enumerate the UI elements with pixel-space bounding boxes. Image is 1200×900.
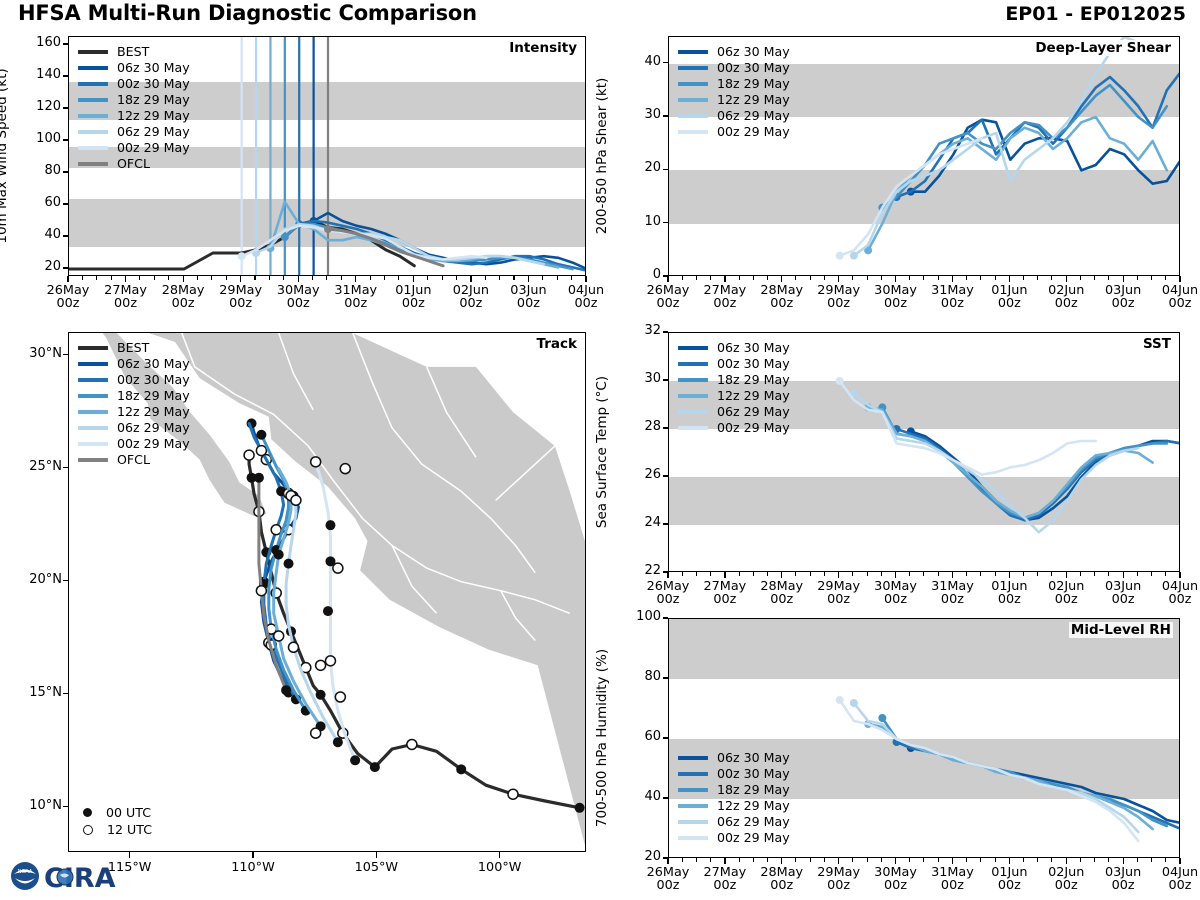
legend-item[interactable]: 00z 30 May xyxy=(678,766,790,782)
legend-swatch xyxy=(678,788,708,792)
y-tick xyxy=(663,677,668,678)
legend-label: OFCL xyxy=(117,454,150,467)
legend-item[interactable]: 18z 29 May xyxy=(678,782,790,798)
panel-title: Deep-Layer Shear xyxy=(1033,40,1173,56)
x-tick-minor xyxy=(1165,858,1166,862)
legend-track: BEST06z 30 May00z 30 May18z 29 May12z 29… xyxy=(78,340,190,468)
y-tick-label: 20 xyxy=(616,849,661,864)
x-tick-minor xyxy=(739,858,740,862)
legend-swatch xyxy=(678,130,708,134)
legend-label: BEST xyxy=(117,46,149,59)
legend-item[interactable]: 06z 29 May xyxy=(678,404,790,420)
legend-label: 18z 29 May xyxy=(717,784,790,797)
legend-swatch xyxy=(678,114,708,118)
legend-label: 00z 30 May xyxy=(117,374,190,387)
legend-label: 12z 29 May xyxy=(717,94,790,107)
x-tick-major xyxy=(1009,858,1010,864)
legend-item[interactable]: 06z 30 May xyxy=(678,750,790,766)
x-tick-minor xyxy=(1151,858,1152,862)
x-tick-minor xyxy=(810,858,811,862)
legend-item[interactable]: 12z 29 May xyxy=(678,388,790,404)
series-start-marker xyxy=(850,699,858,707)
legend-item[interactable]: BEST xyxy=(78,44,190,60)
x-tick-major xyxy=(895,858,896,864)
legend-label: 06z 30 May xyxy=(117,358,190,371)
legend-label: 06z 30 May xyxy=(717,46,790,59)
legend-label: 12z 29 May xyxy=(117,110,190,123)
y-tick-label: 80 xyxy=(616,669,661,684)
x-tick-minor xyxy=(995,858,996,862)
x-tick-hour: 00z xyxy=(884,878,907,893)
legend-swatch xyxy=(678,820,708,824)
legend-swatch xyxy=(678,66,708,70)
noaa-logo-icon: NOAA xyxy=(11,862,39,890)
panel-title: SST xyxy=(1141,336,1173,352)
legend-label: 06z 30 May xyxy=(117,62,190,75)
x-tick-minor xyxy=(696,858,697,862)
x-tick-minor xyxy=(909,858,910,862)
panel-title: Intensity xyxy=(507,40,579,56)
legend-item[interactable]: 18z 29 May xyxy=(678,372,790,388)
legend-label: 00z 30 May xyxy=(717,62,790,75)
open-circle-icon xyxy=(83,825,93,835)
agency-logos: NOAA CIRA xyxy=(8,856,128,896)
y-tick-label: 40 xyxy=(616,789,661,804)
legend-swatch xyxy=(78,426,108,430)
legend-swatch xyxy=(678,394,708,398)
series-line xyxy=(882,718,1167,826)
legend-label: 00z 29 May xyxy=(717,126,790,139)
y-tick xyxy=(663,797,668,798)
legend-swatch xyxy=(678,98,708,102)
series-line xyxy=(868,724,1153,829)
svg-text:NOAA: NOAA xyxy=(18,869,33,875)
legend-marker-item: 12 UTC xyxy=(72,821,152,838)
x-tick-minor xyxy=(1137,858,1138,862)
x-tick-minor xyxy=(852,858,853,862)
x-tick-hour: 00z xyxy=(770,878,793,893)
legend-label: 12z 29 May xyxy=(117,406,190,419)
legend-label: BEST xyxy=(117,342,149,355)
legend-mid-level-rh: 06z 30 May00z 30 May18z 29 May12z 29 May… xyxy=(678,750,790,846)
legend-label: 12z 29 May xyxy=(717,800,790,813)
x-tick-hour: 00z xyxy=(998,878,1021,893)
legend-intensity: BEST06z 30 May00z 30 May18z 29 May12z 29… xyxy=(78,44,190,172)
legend-swatch xyxy=(78,378,108,382)
x-tick-hour: 00z xyxy=(1112,878,1135,893)
x-tick-major xyxy=(1179,858,1180,864)
x-tick-minor xyxy=(767,858,768,862)
x-tick-minor xyxy=(1051,858,1052,862)
x-tick-minor xyxy=(1037,858,1038,862)
legend-item[interactable]: 12z 29 May xyxy=(78,108,190,124)
legend-marker-times: 00 UTC12 UTC xyxy=(72,804,152,838)
x-tick-hour: 00z xyxy=(656,878,679,893)
legend-marker-label: 00 UTC xyxy=(106,805,151,820)
legend-item[interactable]: 00z 30 May xyxy=(78,76,190,92)
legend-swatch xyxy=(678,410,708,414)
legend-item[interactable]: 00z 30 May xyxy=(678,60,790,76)
legend-item[interactable]: 06z 30 May xyxy=(78,356,190,372)
legend-item[interactable]: 06z 29 May xyxy=(78,420,190,436)
legend-item[interactable]: OFCL xyxy=(78,156,190,172)
legend-label: 18z 29 May xyxy=(117,390,190,403)
legend-label: 06z 29 May xyxy=(717,406,790,419)
legend-label: 18z 29 May xyxy=(717,78,790,91)
legend-swatch xyxy=(78,146,108,150)
panel-title: Track xyxy=(535,336,579,352)
x-tick-minor xyxy=(938,858,939,862)
series-start-marker xyxy=(878,714,886,722)
legend-swatch xyxy=(678,82,708,86)
legend-swatch xyxy=(678,756,708,760)
x-tick-minor xyxy=(1023,858,1024,862)
legend-item[interactable]: 00z 29 May xyxy=(78,436,190,452)
legend-swatch xyxy=(78,130,108,134)
legend-item[interactable]: 06z 29 May xyxy=(678,814,790,830)
x-tick-minor xyxy=(710,858,711,862)
legend-swatch xyxy=(678,772,708,776)
legend-item[interactable]: 00z 29 May xyxy=(78,140,190,156)
legend-swatch xyxy=(78,410,108,414)
legend-swatch xyxy=(78,362,108,366)
x-tick-major xyxy=(724,858,725,864)
series-line xyxy=(854,703,1138,832)
x-tick-minor xyxy=(1080,858,1081,862)
legend-label: 00z 29 May xyxy=(717,422,790,435)
legend-swatch xyxy=(78,82,108,86)
filled-circle-icon xyxy=(83,808,92,817)
legend-item[interactable]: 18z 29 May xyxy=(78,92,190,108)
legend-item[interactable]: 00z 30 May xyxy=(78,372,190,388)
legend-item[interactable]: 06z 30 May xyxy=(678,340,790,356)
legend-item[interactable]: 00z 30 May xyxy=(678,356,790,372)
svg-text:CIRA: CIRA xyxy=(44,863,116,894)
legend-item[interactable]: 00z 29 May xyxy=(678,830,790,846)
legend-label: 06z 29 May xyxy=(717,816,790,829)
legend-label: 00z 30 May xyxy=(717,358,790,371)
legend-swatch xyxy=(78,66,108,70)
legend-swatch xyxy=(78,442,108,446)
x-tick-label: 04Jun00z xyxy=(1140,866,1200,892)
legend-marker-item: 00 UTC xyxy=(72,804,152,821)
x-tick-minor xyxy=(1108,858,1109,862)
legend-item[interactable]: OFCL xyxy=(78,452,190,468)
panel-title: Mid-Level RH xyxy=(1069,622,1173,638)
legend-label: 18z 29 May xyxy=(117,94,190,107)
legend-item[interactable]: 06z 29 May xyxy=(678,108,790,124)
legend-label: 00z 29 May xyxy=(117,142,190,155)
legend-item[interactable]: 18z 29 May xyxy=(78,388,190,404)
legend-label: 18z 29 May xyxy=(717,374,790,387)
x-tick-major xyxy=(781,858,782,864)
legend-label: OFCL xyxy=(117,158,150,171)
legend-swatch xyxy=(78,50,108,54)
x-tick-minor xyxy=(867,858,868,862)
legend-swatch xyxy=(678,836,708,840)
y-tick xyxy=(663,737,668,738)
legend-label: 06z 29 May xyxy=(717,110,790,123)
x-tick-hour: 00z xyxy=(1055,878,1078,893)
x-tick-minor xyxy=(682,858,683,862)
legend-swatch xyxy=(78,98,108,102)
legend-item[interactable]: 12z 29 May xyxy=(678,92,790,108)
legend-item[interactable]: 06z 30 May xyxy=(78,60,190,76)
x-tick-minor xyxy=(980,858,981,862)
y-axis-label: 700-500 hPa Humidity (%) xyxy=(594,649,610,827)
legend-swatch xyxy=(78,346,108,350)
legend-item[interactable]: 12z 29 May xyxy=(678,798,790,814)
x-tick-hour: 00z xyxy=(941,878,964,893)
x-tick-hour: 00z xyxy=(713,878,736,893)
legend-item[interactable]: 18z 29 May xyxy=(678,76,790,92)
series-start-marker xyxy=(836,696,844,704)
x-tick-major xyxy=(667,858,668,864)
legend-swatch xyxy=(78,394,108,398)
legend-item[interactable]: BEST xyxy=(78,340,190,356)
legend-label: 06z 29 May xyxy=(117,422,190,435)
legend-swatch xyxy=(678,50,708,54)
x-tick-minor xyxy=(753,858,754,862)
x-tick-minor xyxy=(966,858,967,862)
legend-swatch xyxy=(678,378,708,382)
legend-label: 00z 29 May xyxy=(117,438,190,451)
x-tick-minor xyxy=(795,858,796,862)
legend-label: 06z 30 May xyxy=(717,752,790,765)
legend-sst: 06z 30 May00z 30 May18z 29 May12z 29 May… xyxy=(678,340,790,436)
legend-swatch xyxy=(678,362,708,366)
x-tick-major xyxy=(952,858,953,864)
legend-swatch xyxy=(78,458,108,462)
x-tick-minor xyxy=(1094,858,1095,862)
legend-label: 12z 29 May xyxy=(717,390,790,403)
cira-logo-icon: CIRA xyxy=(44,863,116,894)
legend-label: 06z 29 May xyxy=(117,126,190,139)
x-tick-major xyxy=(1123,858,1124,864)
legend-item[interactable]: 06z 30 May xyxy=(678,44,790,60)
legend-swatch xyxy=(678,804,708,808)
legend-swatch xyxy=(78,114,108,118)
x-tick-minor xyxy=(824,858,825,862)
legend-swatch xyxy=(78,162,108,166)
y-tick-label: 60 xyxy=(616,729,661,744)
legend-swatch xyxy=(678,426,708,430)
legend-label: 00z 30 May xyxy=(717,768,790,781)
x-tick-hour: 00z xyxy=(827,878,850,893)
x-tick-minor xyxy=(881,858,882,862)
legend-item[interactable]: 12z 29 May xyxy=(78,404,190,420)
legend-item[interactable]: 00z 29 May xyxy=(678,124,790,140)
y-tick-label: 100 xyxy=(616,609,661,624)
legend-label: 00z 29 May xyxy=(717,832,790,845)
y-tick xyxy=(663,617,668,618)
legend-label: 00z 30 May xyxy=(117,78,190,91)
x-tick-major xyxy=(838,858,839,864)
x-tick-minor xyxy=(923,858,924,862)
legend-swatch xyxy=(678,346,708,350)
legend-label: 06z 30 May xyxy=(717,342,790,355)
legend-item[interactable]: 00z 29 May xyxy=(678,420,790,436)
legend-deep-layer-shear: 06z 30 May00z 30 May18z 29 May12z 29 May… xyxy=(678,44,790,140)
x-tick-hour: 00z xyxy=(1168,878,1191,893)
x-tick-major xyxy=(1066,858,1067,864)
legend-item[interactable]: 06z 29 May xyxy=(78,124,190,140)
legend-marker-label: 12 UTC xyxy=(107,822,152,837)
